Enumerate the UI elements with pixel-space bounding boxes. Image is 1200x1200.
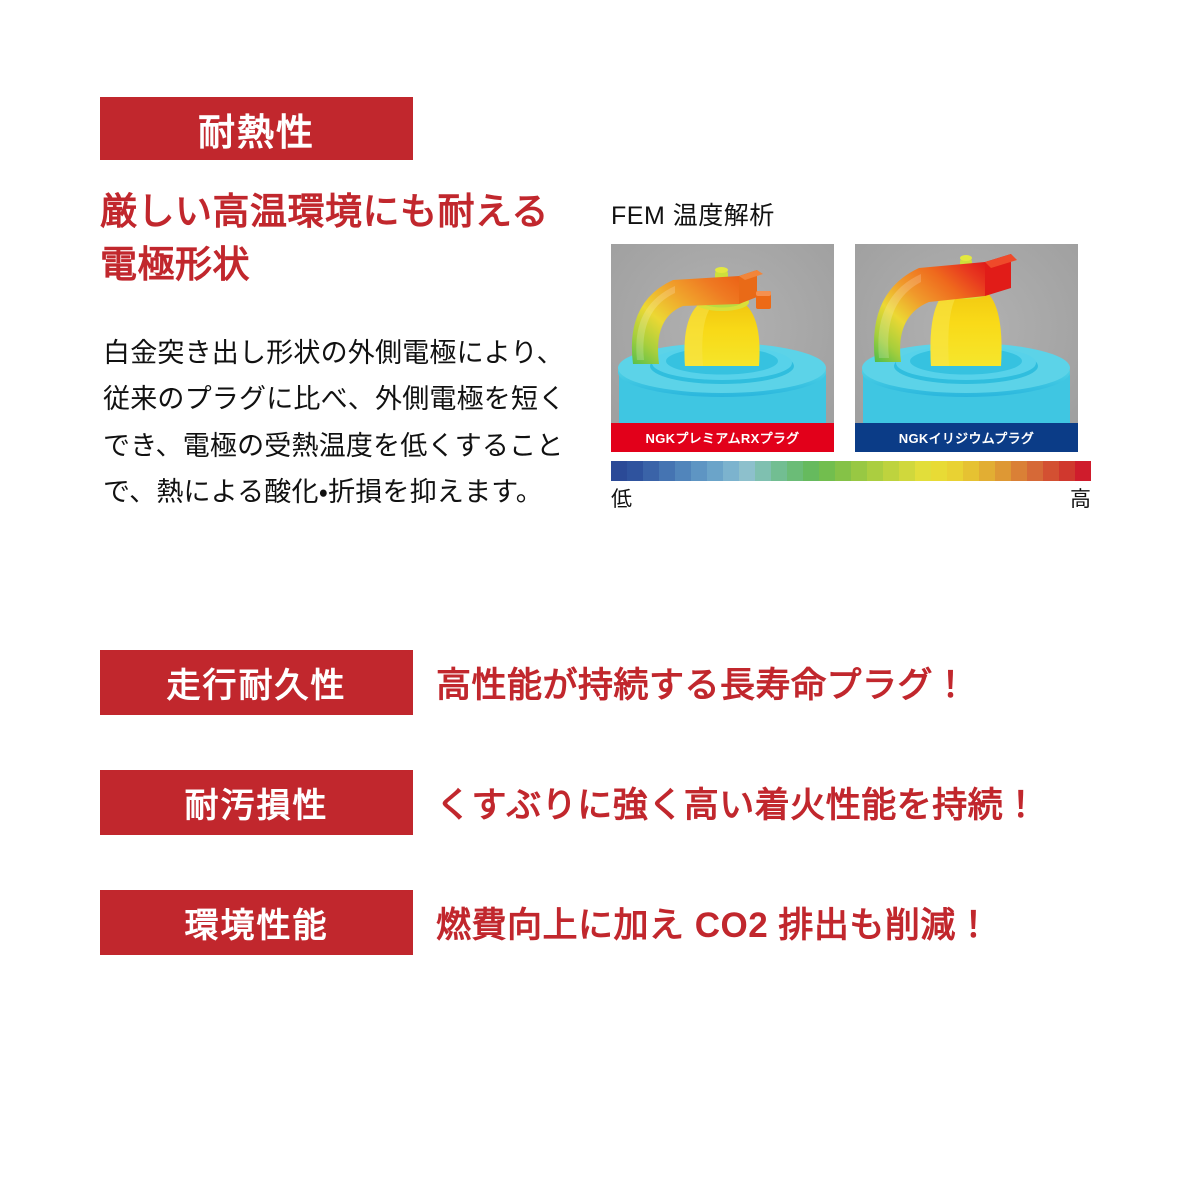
fem-color-scale-swatch-4 <box>675 461 691 481</box>
fem-color-scale-swatch-16 <box>867 461 883 481</box>
fem-thermal-image-iridium <box>855 244 1078 452</box>
fem-color-scale-swatch-25 <box>1011 461 1027 481</box>
fem-scale-high-label: 高 <box>1070 483 1091 513</box>
fem-color-scale-swatch-22 <box>963 461 979 481</box>
fem-color-scale-swatch-3 <box>659 461 675 481</box>
fem-color-scale-swatch-24 <box>995 461 1011 481</box>
fem-color-scale-swatch-28 <box>1059 461 1075 481</box>
fem-color-scale-swatch-1 <box>627 461 643 481</box>
feature-text-environmental: 燃費向上に加え CO2 排出も削減！ <box>436 897 991 948</box>
fem-color-scale-swatch-9 <box>755 461 771 481</box>
fem-color-scale-swatch-21 <box>947 461 963 481</box>
fem-color-scale-bar <box>611 461 1091 481</box>
heat-resistance-headline-line2: 電極形状 <box>100 239 580 292</box>
feature-row: 走行耐久性 高性能が持続する長寿命プラグ！ <box>100 650 1020 715</box>
feature-badge-durability: 走行耐久性 <box>100 650 413 715</box>
fem-color-scale-swatch-8 <box>739 461 755 481</box>
fem-panel-list: NGKプレミアムRXプラグ <box>611 244 1091 452</box>
fem-color-scale-swatch-18 <box>899 461 915 481</box>
fem-panel-premium-rx: NGKプレミアムRXプラグ <box>611 244 834 452</box>
fem-analysis-block: FEM 温度解析 <box>611 196 1091 513</box>
heat-resistance-body-text: 白金突き出し形状の外側電極により、従来のプラグに比べ、外側電極を短くでき、電極の… <box>103 330 581 516</box>
feature-badge-environmental: 環境性能 <box>100 890 413 955</box>
feature-badge-fouling-resistance: 耐汚損性 <box>100 770 413 835</box>
fem-color-scale-swatch-0 <box>611 461 627 481</box>
feature-badge-label: 環境性能 <box>185 898 329 947</box>
heat-resistance-headline-line1: 厳しい高温環境にも耐える <box>100 186 580 239</box>
fem-color-scale-swatch-13 <box>819 461 835 481</box>
fem-color-scale-swatch-27 <box>1043 461 1059 481</box>
fem-color-scale-swatch-5 <box>691 461 707 481</box>
fem-color-scale-swatch-23 <box>979 461 995 481</box>
fem-color-scale-swatch-7 <box>723 461 739 481</box>
fem-color-scale-swatch-19 <box>915 461 931 481</box>
fem-thermal-image-premium-rx <box>611 244 834 452</box>
fem-color-scale: 低 高 <box>611 461 1091 513</box>
fem-color-scale-swatch-2 <box>643 461 659 481</box>
feature-row: 環境性能 燃費向上に加え CO2 排出も削減！ <box>100 890 1020 955</box>
fem-color-scale-swatch-20 <box>931 461 947 481</box>
heat-resistance-headline: 厳しい高温環境にも耐える 電極形状 <box>100 186 580 291</box>
fem-color-scale-swatch-6 <box>707 461 723 481</box>
fem-color-scale-swatch-26 <box>1027 461 1043 481</box>
fem-caption-iridium: NGKイリジウムプラグ <box>855 423 1078 452</box>
fem-color-scale-swatch-12 <box>803 461 819 481</box>
fem-analysis-title: FEM 温度解析 <box>611 196 1091 232</box>
feature-text-durability: 高性能が持続する長寿命プラグ！ <box>436 657 969 708</box>
heat-resistance-badge-label: 耐熱性 <box>198 102 315 156</box>
fem-color-scale-swatch-14 <box>835 461 851 481</box>
fem-panel-iridium: NGKイリジウムプラグ <box>855 244 1078 452</box>
fem-color-scale-swatch-10 <box>771 461 787 481</box>
fem-color-scale-swatch-29 <box>1075 461 1091 481</box>
heat-resistance-badge: 耐熱性 <box>100 97 413 160</box>
fem-color-scale-swatch-15 <box>851 461 867 481</box>
feature-badge-label: 走行耐久性 <box>167 658 347 707</box>
fem-caption-premium-rx: NGKプレミアムRXプラグ <box>611 423 834 452</box>
fem-color-scale-swatch-17 <box>883 461 899 481</box>
feature-text-fouling-resistance: くすぶりに強く高い着火性能を持続！ <box>436 777 1039 828</box>
feature-badge-label: 耐汚損性 <box>185 778 329 827</box>
fem-color-scale-labels: 低 高 <box>611 483 1091 513</box>
fem-scale-low-label: 低 <box>611 483 632 513</box>
feature-row: 耐汚損性 くすぶりに強く高い着火性能を持続！ <box>100 770 1020 835</box>
fem-color-scale-swatch-11 <box>787 461 803 481</box>
